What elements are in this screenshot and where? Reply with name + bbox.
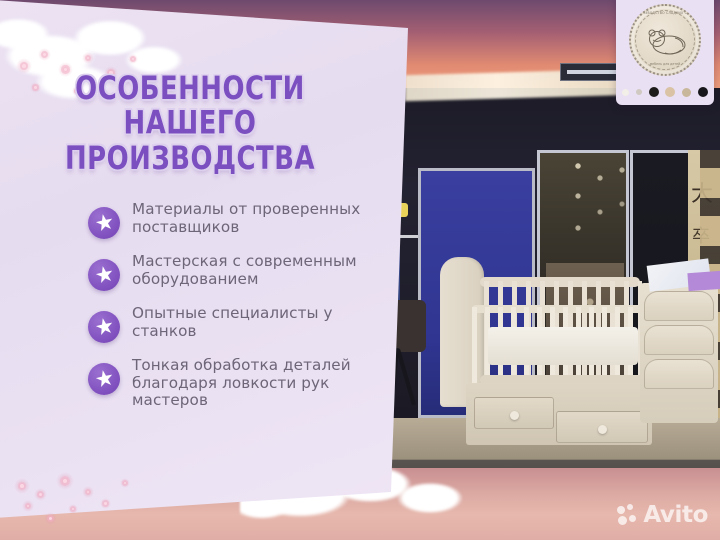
dresser-drawer-1 <box>644 291 714 321</box>
swatch-beige <box>665 87 675 97</box>
star-icon <box>88 207 120 239</box>
list-item: Опытные специалисты у станков <box>88 304 388 343</box>
list-item-label: Тонкая обработка деталей благодаря ловко… <box>132 356 388 410</box>
purple-box <box>687 271 720 291</box>
seal-circular-text: ПРОИЗВОДСТВО СЛАДКИХ СНОВ <box>634 11 695 15</box>
list-item-label: Мастерская с современным оборудованием <box>132 252 388 288</box>
crib-dresser <box>640 283 718 423</box>
poster-canvas: ОСОБЕННОСТИ НАШЕГО ПРОИЗВОДСТВА Материал… <box>0 0 720 540</box>
feature-list: Материалы от проверенных поставщиков Мас… <box>88 200 388 423</box>
dresser-drawer-3 <box>644 359 714 389</box>
list-item: Тонкая обработка деталей благодаря ловко… <box>88 356 388 410</box>
avito-dots-icon <box>617 504 639 526</box>
dresser-drawer-2 <box>644 325 714 355</box>
list-item: Материалы от проверенных поставщиков <box>88 200 388 239</box>
star-icon <box>88 363 120 395</box>
avito-label: Avito <box>643 502 708 528</box>
brand-logo-card: ПРОИЗВОДСТВО СЛАДКИХ СНОВ мебель для дет… <box>616 0 714 105</box>
list-item-label: Материалы от проверенных поставщиков <box>132 200 388 236</box>
drawer-knob-left <box>510 411 519 420</box>
brand-seal: ПРОИЗВОДСТВО СЛАДКИХ СНОВ мебель для дет… <box>629 4 701 76</box>
avito-watermark: Avito <box>617 502 708 528</box>
drawer-knob-right <box>598 425 607 434</box>
swatch-dark <box>698 87 708 97</box>
title-line-2: НАШЕГО <box>8 107 373 142</box>
list-item-label: Опытные специалисты у станков <box>132 304 388 340</box>
sleeping-bear-icon <box>645 26 689 58</box>
star-icon <box>88 259 120 291</box>
swatch-grey <box>636 89 642 95</box>
swatch-sand <box>682 88 691 97</box>
star-icon <box>88 311 120 343</box>
page-title: ОСОБЕННОСТИ НАШЕГО ПРОИЗВОДСТВА <box>8 72 373 176</box>
swatch-white <box>622 89 629 96</box>
color-swatch-row <box>622 87 708 97</box>
seal-subtitle: мебель для детей <box>631 62 699 66</box>
crib-mattress <box>488 327 638 365</box>
swatch-black <box>649 87 659 97</box>
title-line-1: ОСОБЕННОСТИ <box>8 72 373 107</box>
list-item: Мастерская с современным оборудованием <box>88 252 388 291</box>
title-line-3: ПРОИЗВОДСТВА <box>8 141 373 176</box>
